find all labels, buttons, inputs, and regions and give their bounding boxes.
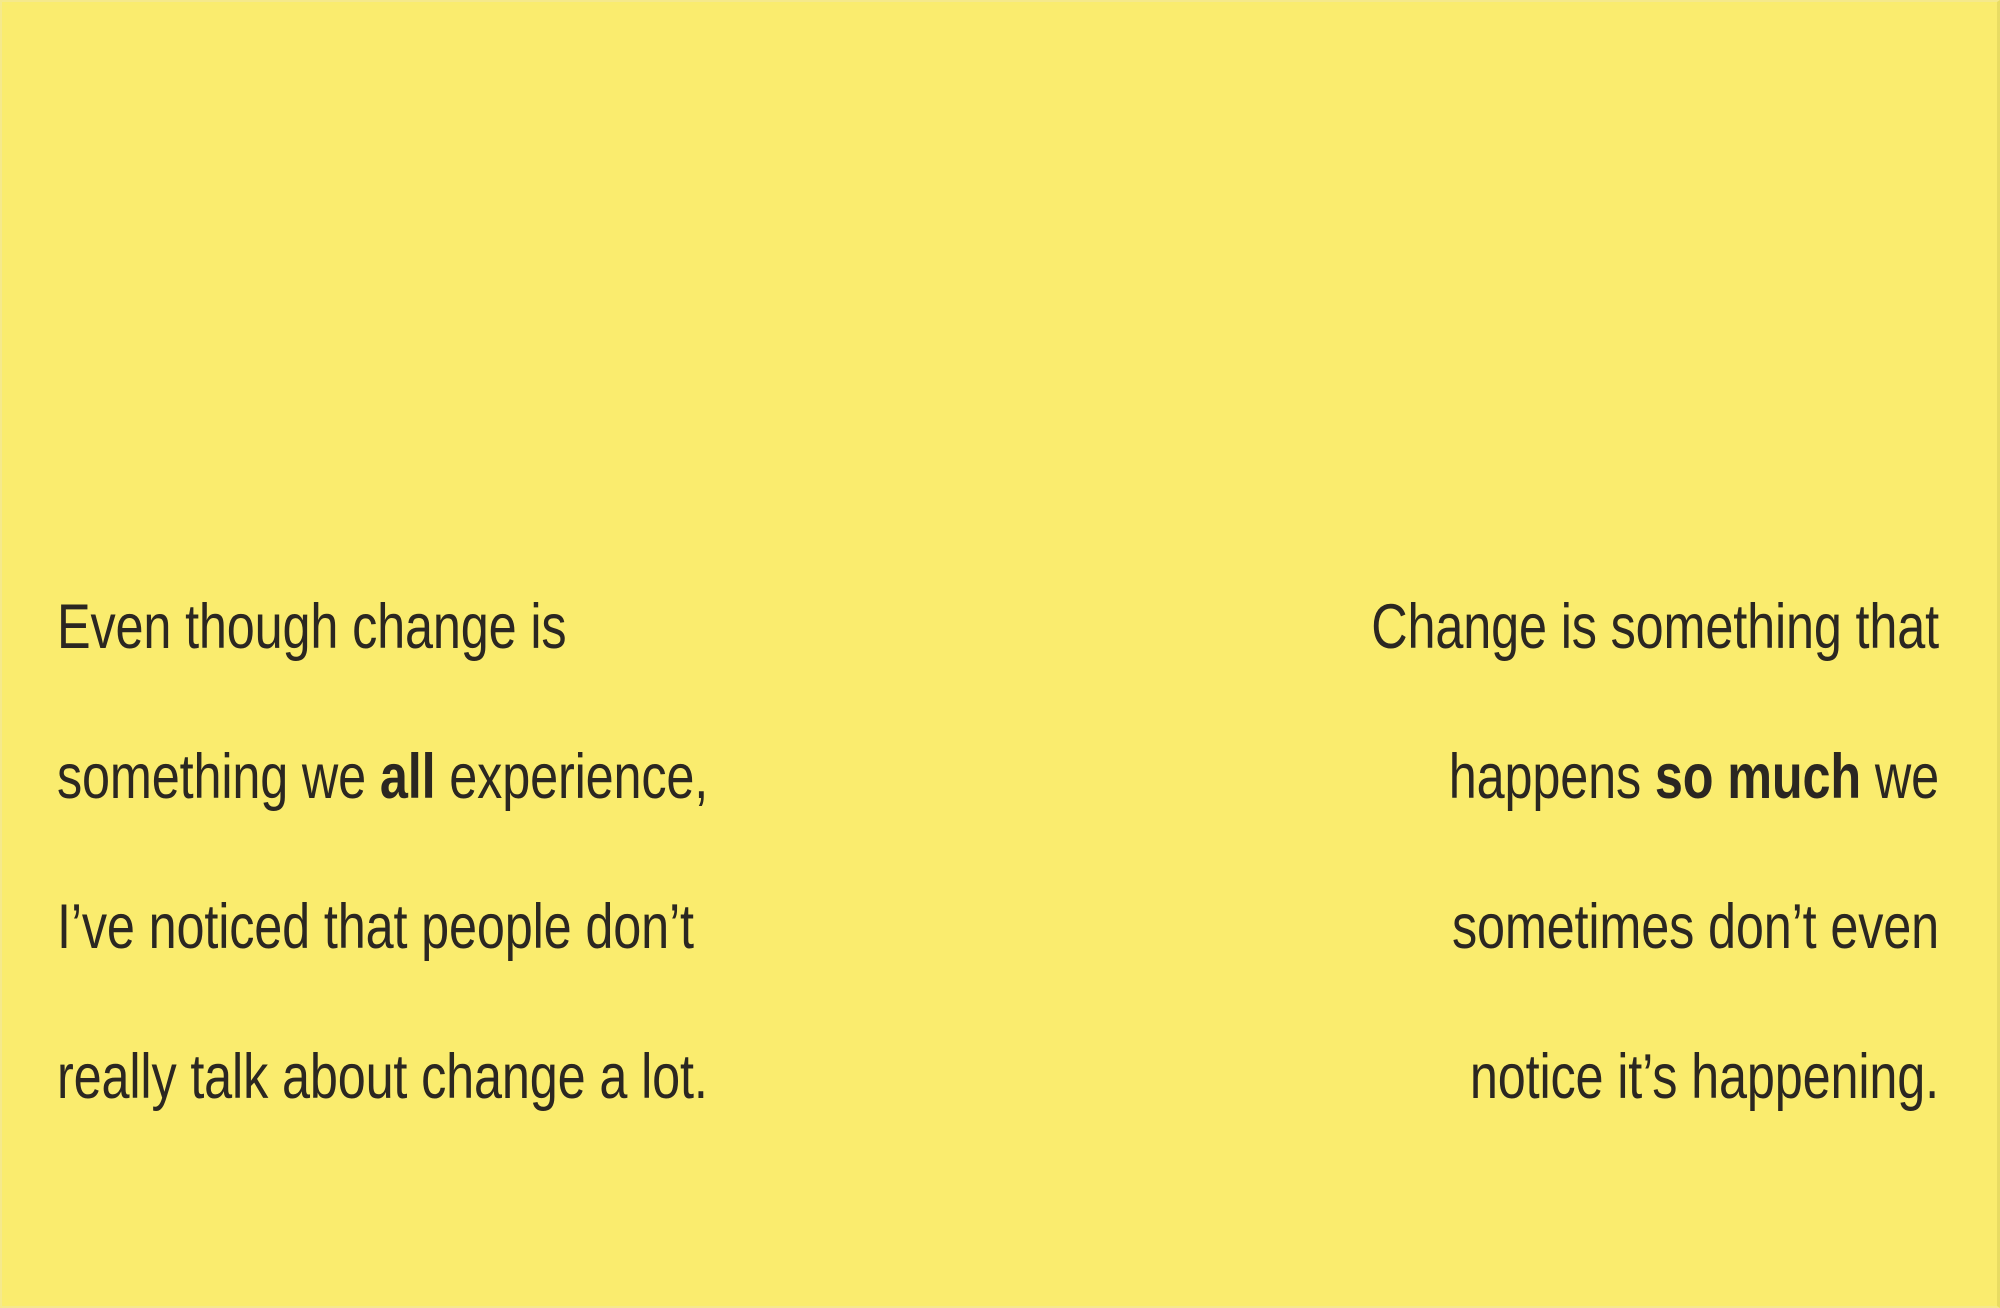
quote-right-line-3-text: sometimes don’t even (1452, 892, 1939, 962)
quote-right-line-2-emphasis: so much (1655, 742, 1861, 812)
quote-left-line-2-text: something we (57, 742, 380, 812)
quote-left-line-2-after: experience, (435, 742, 708, 812)
quote-right-column: Change is something that happens so much… (1219, 440, 1939, 1115)
quote-columns: Even though change is something we all e… (2, 2, 1997, 1306)
quote-right-line-1: Change is something that (1219, 515, 1939, 590)
quote-right-line-4: notice it’s happening. (1219, 965, 1939, 1040)
quote-left-line-4: really talk about change a lot. (57, 965, 777, 1040)
quote-right-line-2: happens so much we (1219, 665, 1939, 740)
quote-right-line-2-text: happens (1449, 742, 1655, 812)
quote-left-column: Even though change is something we all e… (57, 440, 777, 1115)
quote-left-line-4-text: really talk about change a lot. (57, 1042, 708, 1112)
quote-left-line-1-text: Even though change is (57, 592, 566, 662)
quote-left-line-3: I’ve noticed that people don’t (57, 815, 777, 890)
quote-right-line-4-text: notice it’s happening. (1470, 1042, 1939, 1112)
quote-right-line-1-text: Change is something that (1371, 592, 1939, 662)
slide-canvas: Even though change is something we all e… (0, 0, 2000, 1308)
quote-right-line-3: sometimes don’t even (1219, 815, 1939, 890)
quote-left-line-2: something we all experience, (57, 665, 777, 740)
quote-left-line-2-emphasis: all (380, 742, 436, 812)
quote-left-line-3-text: I’ve noticed that people don’t (57, 892, 694, 962)
quote-right-line-2-after: we (1861, 742, 1939, 812)
quote-left-line-1: Even though change is (57, 515, 777, 590)
